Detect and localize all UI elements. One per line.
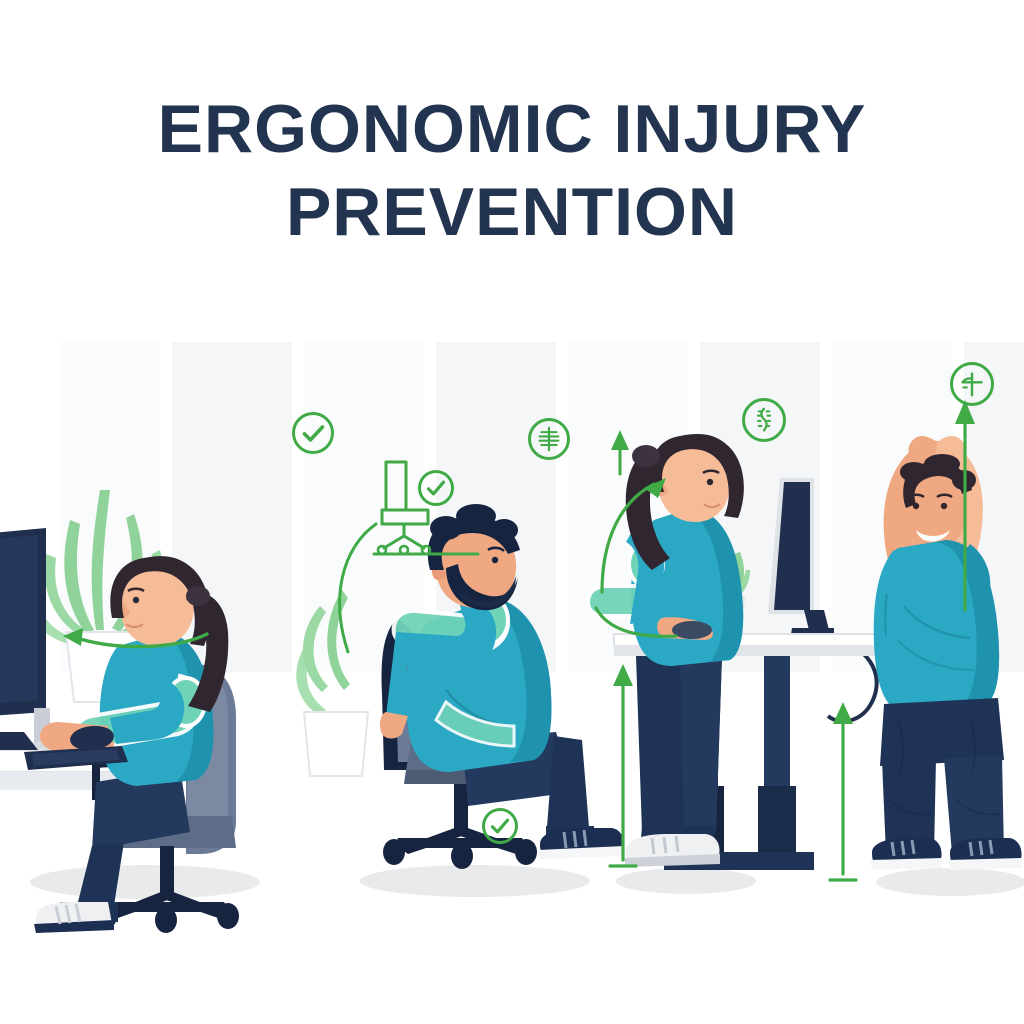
illustration-scene [0, 320, 1024, 940]
panel-stretch-break [858, 360, 1024, 920]
check-circle-icon [482, 808, 518, 844]
desk-height-arrow [608, 660, 638, 870]
elbow-lower-arrow [592, 604, 682, 644]
page-title-line-1: ERGONOMIC INJURY [0, 96, 1024, 163]
eye [133, 597, 139, 603]
posture-circle-icon [950, 362, 994, 406]
standing-height-arrow [828, 698, 858, 884]
shoe [624, 834, 720, 867]
eye [941, 503, 947, 509]
spine-circle-icon [742, 398, 786, 442]
shoe [948, 838, 1022, 870]
back-alignment-arrow [606, 428, 636, 478]
poster-root: ERGONOMIC INJURY PREVENTION [0, 0, 1024, 1024]
page-title: ERGONOMIC INJURY PREVENTION [0, 96, 1024, 247]
check-circle-icon [418, 470, 454, 506]
spine-circle-icon [528, 418, 570, 460]
check-circle-icon [292, 412, 334, 454]
page-title-line-2: PREVENTION [0, 179, 1024, 246]
eye [913, 503, 919, 509]
chair-base-line [372, 548, 482, 560]
elbow-angle-arrow [596, 478, 676, 598]
reach-height-arrow [950, 396, 980, 616]
desk-pad [0, 732, 38, 750]
eye [492, 557, 498, 563]
legs [636, 656, 722, 852]
pants [880, 698, 1004, 854]
shoe [34, 902, 114, 933]
panel-seated-correct-posture [0, 450, 340, 920]
eye [707, 479, 713, 485]
shoe [870, 838, 942, 870]
sleeve [882, 550, 906, 594]
wrist-neutral-arrow [55, 616, 215, 656]
